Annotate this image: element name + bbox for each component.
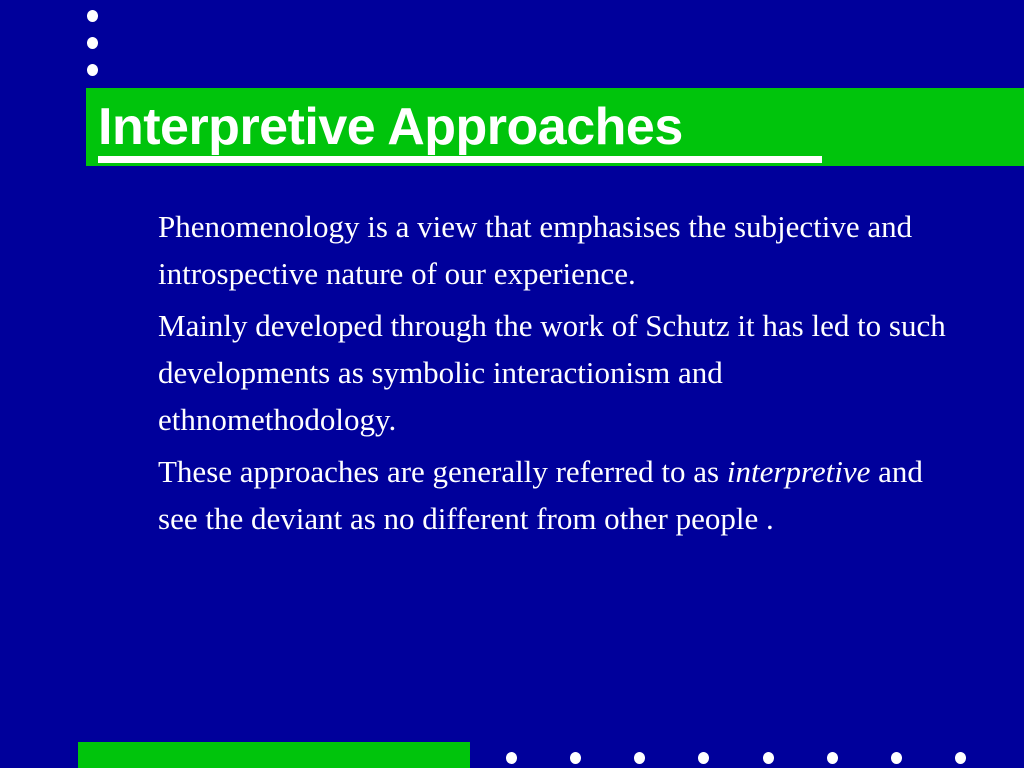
footer-dot-icon [570,752,581,764]
body-paragraph-3: These approaches are generally referred … [158,448,958,542]
footer-dot-icon [634,752,645,764]
body-paragraph-1: Phenomenology is a view that emphasises … [158,203,958,297]
footer-dot-icon [891,752,902,764]
title-band: Interpretive Approaches [86,88,1024,166]
paragraph-2-text: Mainly developed through the work of Sch… [158,308,946,437]
footer-dot-icon [698,752,709,764]
title-underline [98,156,822,163]
paragraph-3-emphasis-interpretive: interpretive [727,454,870,489]
slide-body: Phenomenology is a view that emphasises … [158,203,958,547]
paragraph-3-text-lead: These approaches are generally referred … [158,454,727,489]
footer-dot-icon [955,752,966,764]
paragraph-1-text: Phenomenology is a view that emphasises … [158,209,912,291]
top-bullet-dot-group [87,10,111,91]
bottom-accent-bar [78,742,470,768]
footer-dot-icon [763,752,774,764]
presentation-slide: Interpretive Approaches Phenomenology is… [0,0,1024,768]
body-paragraph-2: Mainly developed through the work of Sch… [158,302,958,443]
bullet-dot-icon [87,37,98,49]
footer-dot-icon [827,752,838,764]
footer-dot-icon [506,752,517,764]
bullet-dot-icon [87,64,98,76]
bottom-dot-group [506,751,966,765]
bullet-dot-icon [87,10,98,22]
slide-title: Interpretive Approaches [98,88,683,166]
